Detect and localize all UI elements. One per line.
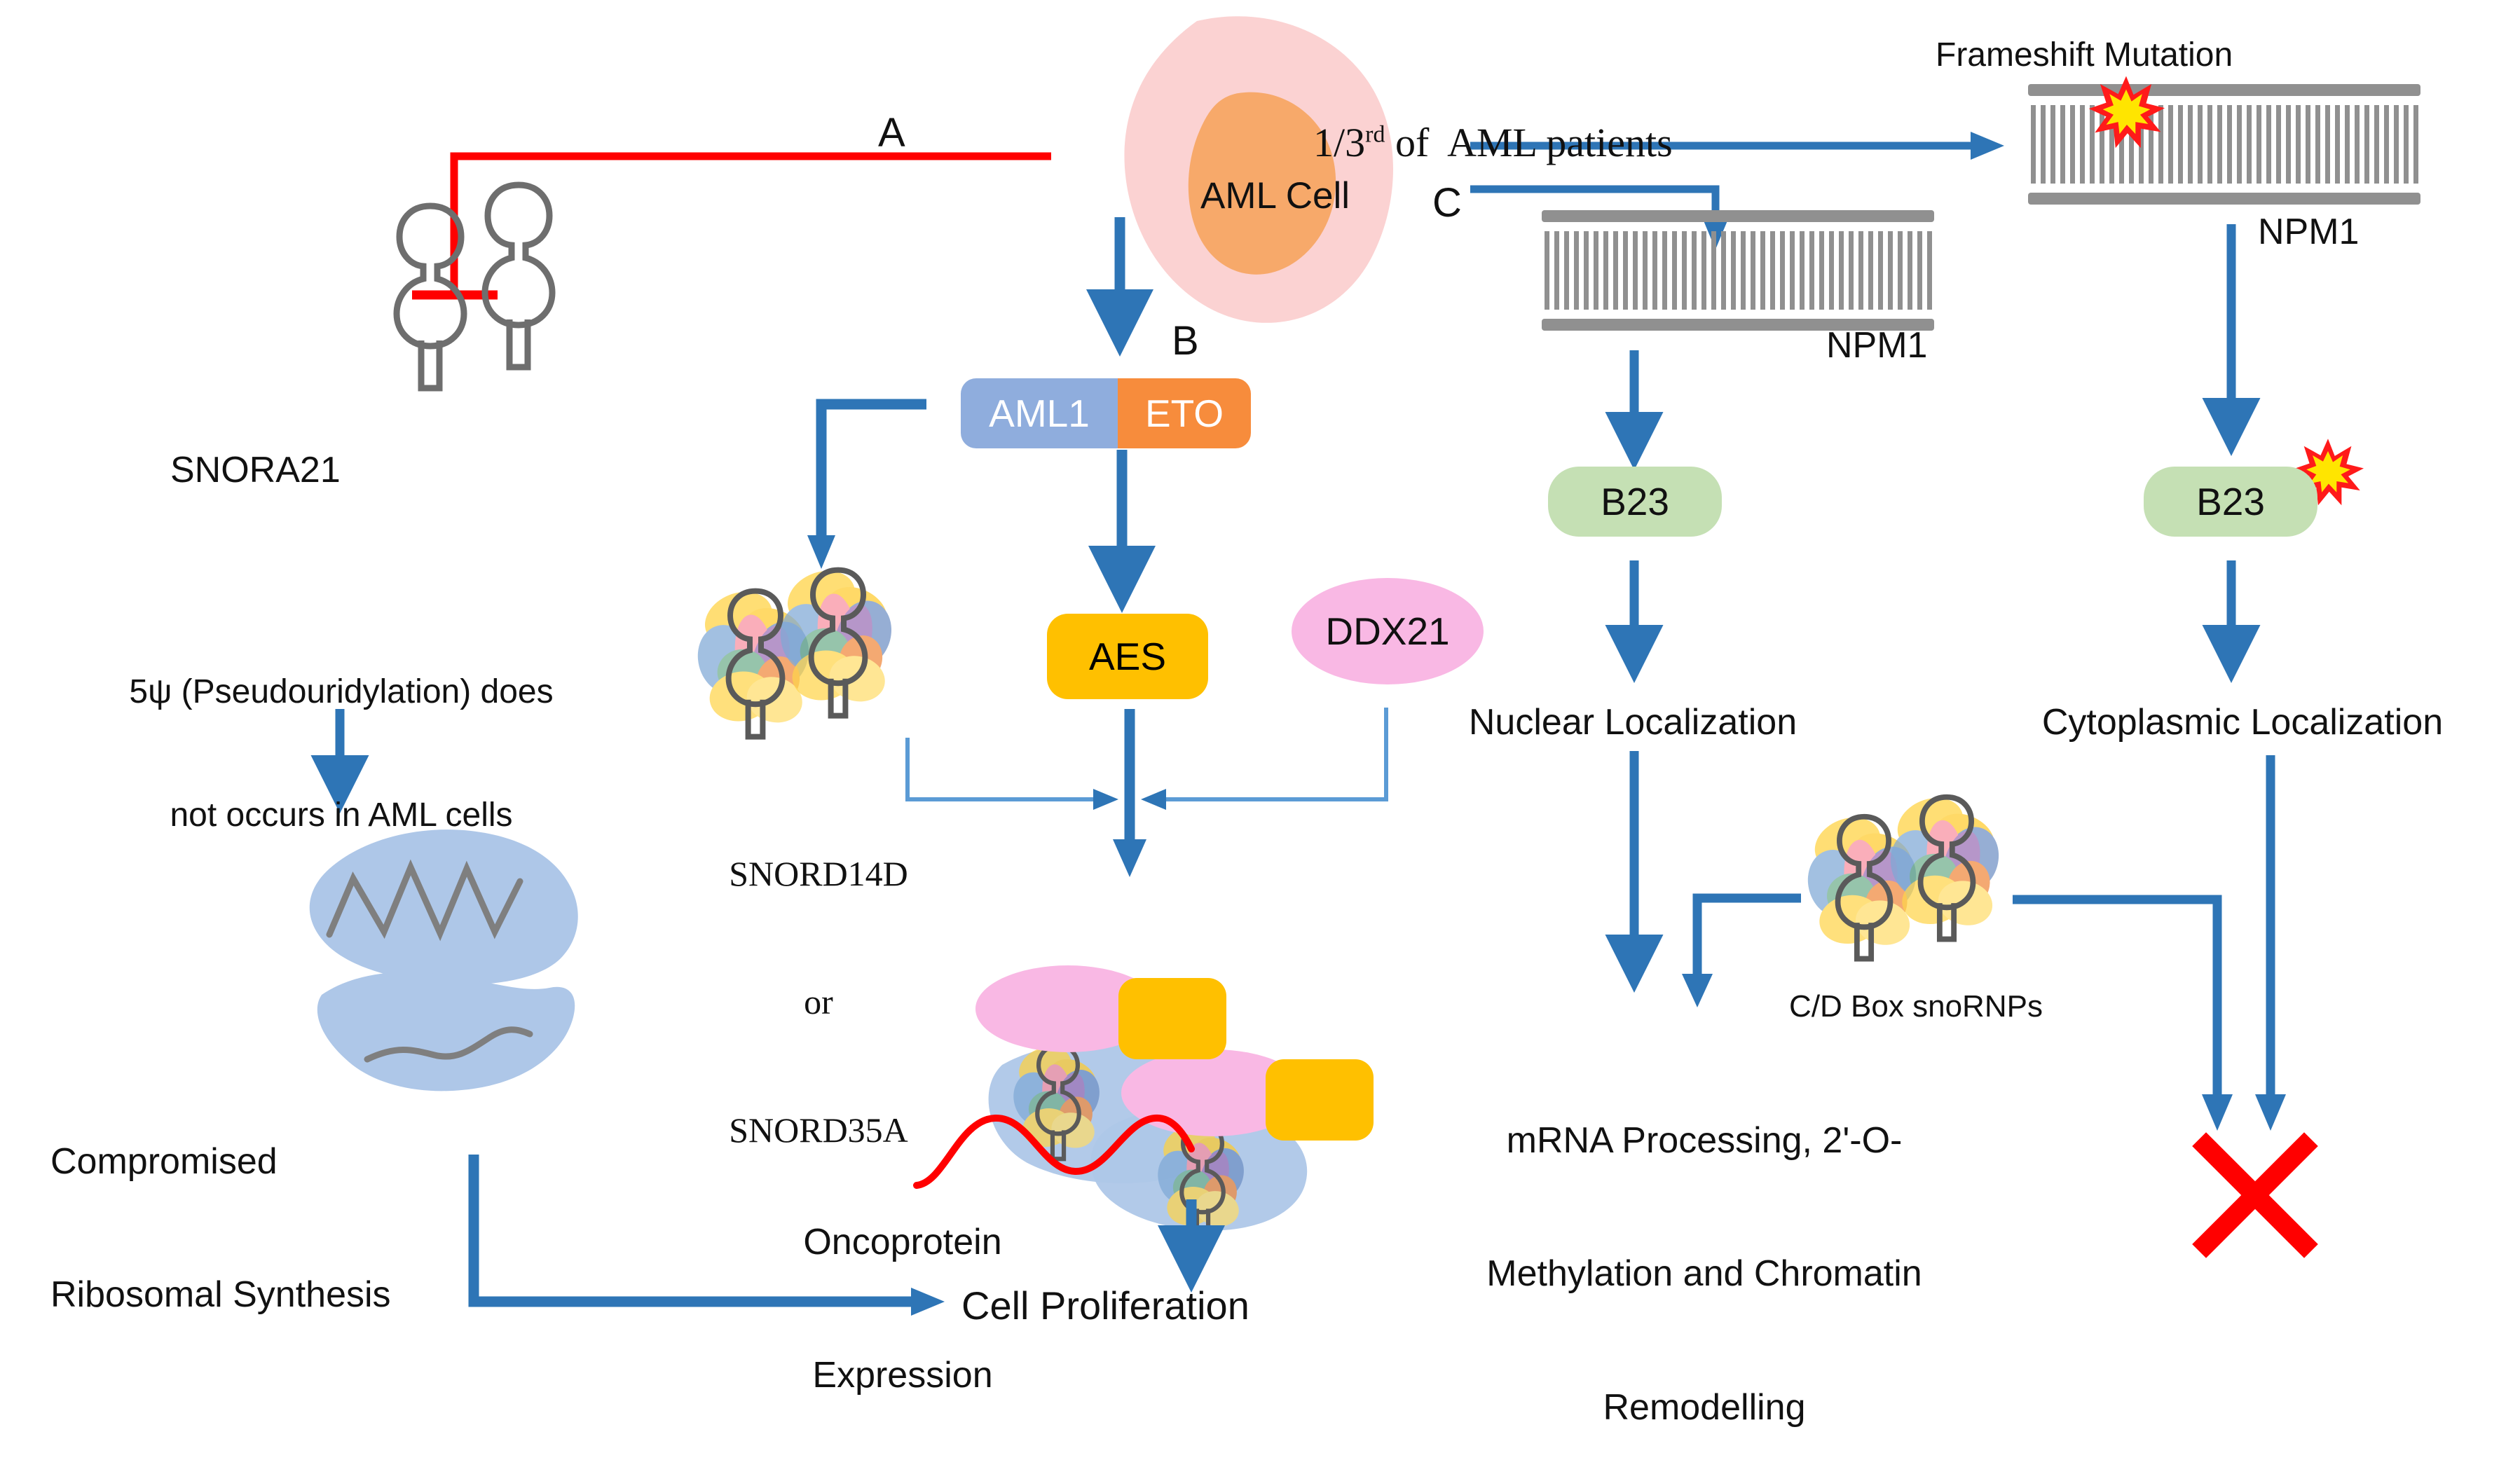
red-cross-icon	[2206, 1146, 2304, 1244]
panel-letter-a: A	[878, 109, 905, 158]
arrow-snornp-to-cross	[2013, 900, 2233, 1131]
pseudouridylation-line-2: not occurs in AML cells	[129, 795, 553, 836]
compromised-line-2: Ribosomal Synthesis	[50, 1273, 391, 1317]
aml-patients-fraction-label: 1/3rd of AML patients	[1293, 69, 1673, 168]
snora21-label: SNORA21	[170, 448, 341, 493]
b23-wild-box[interactable]: B23	[1548, 467, 1722, 537]
outcome-line-3: Remodelling	[1486, 1386, 1922, 1430]
outcome-line-1: mRNA Processing, 2'-O-	[1486, 1119, 1922, 1163]
arrow-fusion-to-snornp	[807, 404, 926, 569]
b23-mutant-box[interactable]: B23	[2144, 467, 2317, 537]
snornp-complex-icon-cd	[1801, 788, 2006, 958]
ddx21-box[interactable]: DDX21	[1292, 578, 1484, 684]
npm1-mutant-label: NPM1	[2258, 210, 2359, 254]
figure-canvas: A B C AML Cell 1/3rd of AML patients SNO…	[0, 0, 2520, 1354]
connector-snornp-to-junction	[908, 738, 1118, 810]
inhibition-tbar-icon	[412, 156, 1051, 295]
aes-in-complex-2	[1266, 1059, 1374, 1141]
outcome-label: mRNA Processing, 2'-O- Methylation and C…	[1486, 1030, 1922, 1474]
compromised-line-1: Compromised	[50, 1140, 391, 1184]
pseudouridylation-line-1: 5ψ (Pseudouridylation) does	[129, 672, 553, 713]
snord-label: SNORD14D or SNORD35A	[729, 767, 908, 1194]
cell-proliferation-label: Cell Proliferation	[961, 1282, 1249, 1330]
cytoplasmic-localization-label: Cytoplasmic Localization	[2042, 701, 2443, 745]
fraction-value: 1/3	[1313, 120, 1365, 165]
gene-dna-icon-mutant	[2028, 84, 2420, 205]
oncoprotein-line-2: Expression	[803, 1354, 1001, 1398]
oncoprotein-line-1: Oncoprotein	[803, 1220, 1001, 1265]
aml-cell-icon	[1124, 16, 1393, 323]
panel-letter-b: B	[1172, 317, 1199, 366]
compromised-ribosomal-synthesis-label: Compromised Ribosomal Synthesis	[50, 1051, 391, 1362]
pseudouridylation-text: 5ψ (Pseudouridylation) does not occurs i…	[129, 590, 553, 877]
cd-box-snornps-label: C/D Box snoRNPs	[1789, 988, 2043, 1026]
aml1-box[interactable]: AML1	[961, 378, 1118, 448]
arrow-snornp-to-outcome	[1682, 898, 1801, 1007]
eto-box[interactable]: ETO	[1118, 378, 1251, 448]
snorna-hairpin-icon	[397, 185, 552, 388]
connector-ddx21-to-junction	[1141, 708, 1386, 810]
aes-in-complex-1	[1118, 978, 1226, 1059]
snord-line-1: SNORD14D	[729, 853, 908, 895]
snornp-complex-icon	[691, 561, 899, 737]
nuclear-localization-label: Nuclear Localization	[1469, 701, 1797, 745]
panel-letter-c: C	[1432, 179, 1462, 228]
gene-dna-icon-wild	[1542, 210, 1934, 331]
patients-rest: of AML patients	[1385, 120, 1672, 165]
npm1-wild-label: NPM1	[1826, 324, 1927, 368]
aes-box[interactable]: AES	[1047, 614, 1208, 699]
arrow-cytoplasmic-to-cross	[2255, 755, 2286, 1131]
outcome-line-2: Methylation and Chromatin	[1486, 1252, 1922, 1296]
fraction-ordinal: rd	[1365, 121, 1385, 147]
arrow-aes-to-oncoprotein	[1113, 709, 1146, 877]
frameshift-mutation-label: Frameshift Mutation	[1936, 35, 2233, 76]
aml-cell-label: AML Cell	[1200, 174, 1350, 219]
snord-line-2: or	[729, 981, 908, 1024]
